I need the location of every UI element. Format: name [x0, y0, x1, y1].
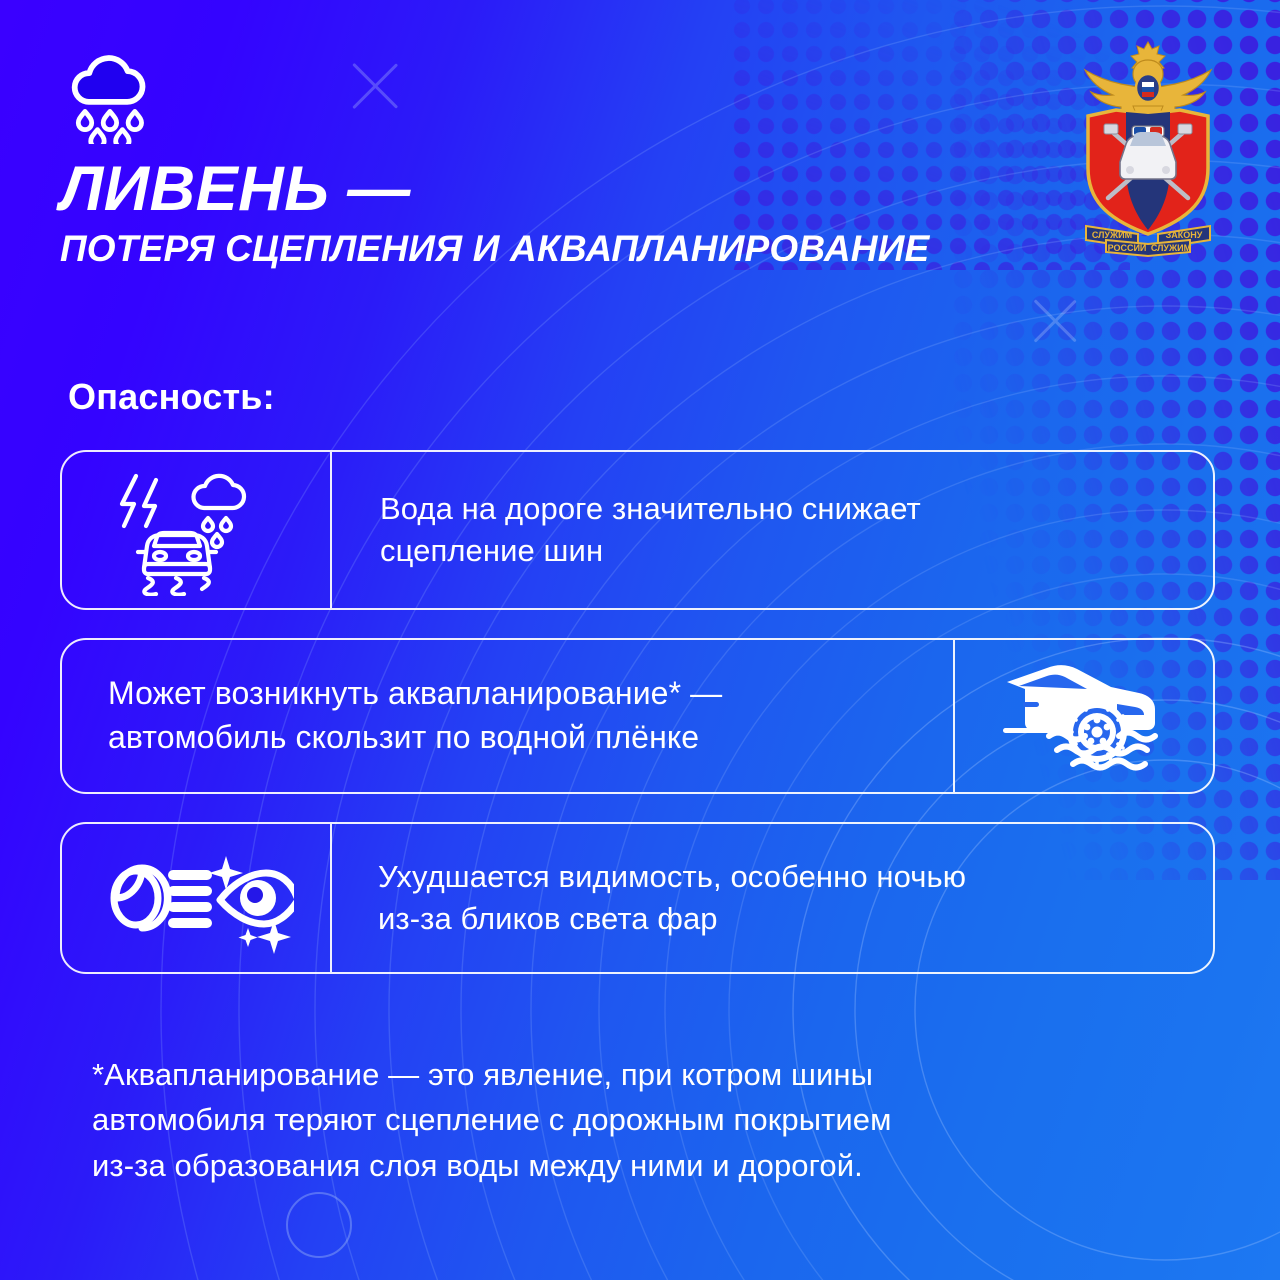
card-2-text: Может возникнуть аквапланирование* — авт…: [62, 640, 953, 792]
card-2-line-2: автомобиль скользит по водной плёнке: [108, 716, 722, 760]
motto-rossii: РОССИИ: [1108, 243, 1147, 253]
double-headed-eagle: [1085, 42, 1211, 116]
header: ЛИВЕНЬ — ПОТЕРЯ СЦЕПЛЕНИЯ И АКВАПЛАНИРОВ…: [60, 52, 1060, 269]
card-3-line-2: из-за бликов света фар: [378, 898, 966, 940]
motto-sluzhim-left: СЛУЖИМ: [1092, 230, 1132, 240]
headlight-glare-eye-icon: [98, 842, 294, 954]
danger-card-list: Вода на дороге значительно снижает сцепл…: [60, 450, 1215, 1002]
card-3-text: Ухудшается видимость, особенно ночью из-…: [332, 824, 1213, 972]
footnote-line-2: автомобиля теряют сцепление с дорожным п…: [92, 1097, 1102, 1142]
circle-outline-decoration: [286, 1192, 352, 1258]
car-rain-skid-icon: [108, 464, 284, 596]
card-1-line-2: сцепление шин: [380, 530, 921, 572]
danger-card-3: Ухудшается видимость, особенно ночью из-…: [60, 822, 1215, 974]
section-heading-danger: Опасность:: [68, 376, 275, 418]
rain-cloud-icon: [60, 52, 156, 144]
cross-decoration-icon: [1026, 292, 1084, 350]
mvd-gibdd-emblem: СЛУЖИМ ЗАКОНУ РОССИИ СЛУЖИМ: [1054, 30, 1242, 258]
danger-card-1: Вода на дороге значительно снижает сцепл…: [60, 450, 1215, 610]
footnote-line-1: *Аквапланирование — это явление, при кот…: [92, 1052, 1102, 1097]
card-2-icon-cell: [955, 640, 1213, 792]
infographic-poster: ЛИВЕНЬ — ПОТЕРЯ СЦЕПЛЕНИЯ И АКВАПЛАНИРОВ…: [0, 0, 1280, 1280]
footnote-aquaplaning-definition: *Аквапланирование — это явление, при кот…: [92, 1052, 1102, 1188]
page-title: ЛИВЕНЬ —: [60, 158, 1060, 221]
card-2-line-1: Может возникнуть аквапланирование* —: [108, 672, 722, 716]
card-3-line-1: Ухудшается видимость, особенно ночью: [378, 856, 966, 898]
danger-card-2: Может возникнуть аквапланирование* — авт…: [60, 638, 1215, 794]
card-1-text: Вода на дороге значительно снижает сцепл…: [332, 452, 1213, 608]
card-1-icon-cell: [62, 452, 330, 608]
card-3-icon-cell: [62, 824, 330, 972]
motto-sluzhim-right: СЛУЖИМ: [1151, 243, 1191, 253]
eye: [220, 873, 294, 924]
motto-zakonu: ЗАКОНУ: [1166, 230, 1203, 240]
footnote-line-3: из-за образования слоя воды между ними и…: [92, 1143, 1102, 1188]
page-subtitle: ПОТЕРЯ СЦЕПЛЕНИЯ И АКВАПЛАНИРОВАНИЕ: [60, 230, 1060, 269]
card-1-line-1: Вода на дороге значительно снижает: [380, 488, 921, 530]
car-aquaplaning-water-icon: [989, 656, 1179, 776]
